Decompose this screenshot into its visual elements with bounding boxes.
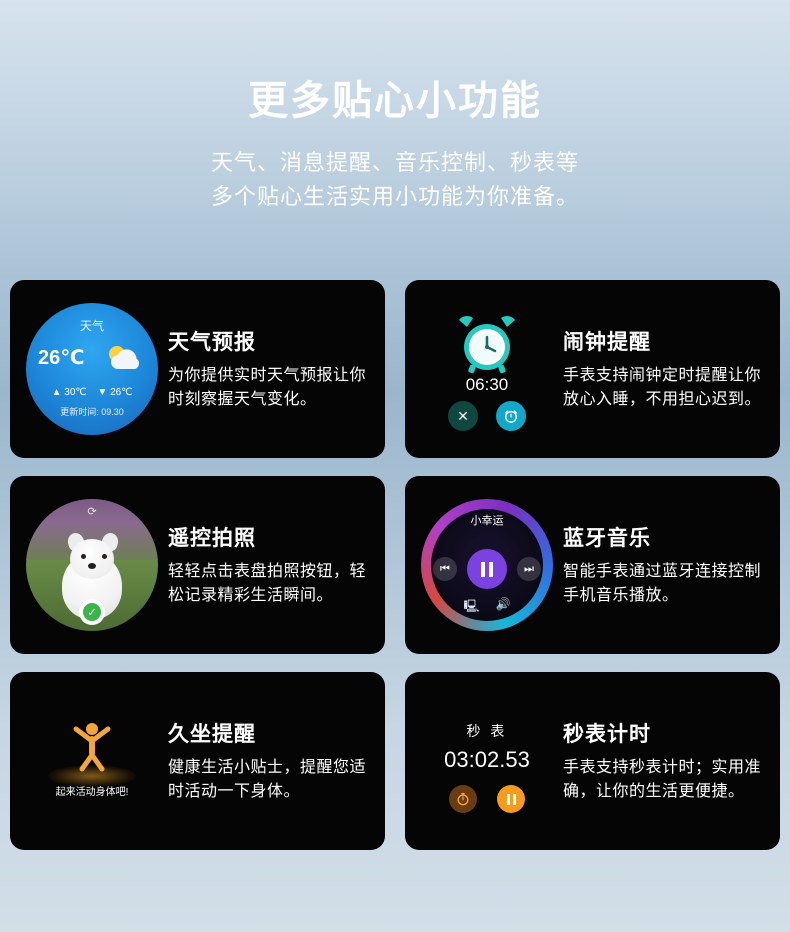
feature-card-music[interactable]: 小幸运 ⏮ ⏭ 🖳 🔊 蓝牙音乐 智能手表通过蓝牙连接控制手机音乐播放。 bbox=[405, 476, 780, 654]
previous-track-icon[interactable]: ⏮ bbox=[433, 557, 457, 581]
page-subtitle: 天气、消息提醒、音乐控制、秒表等 多个贴心生活实用小功能为你准备。 bbox=[0, 146, 790, 214]
stretching-person-icon bbox=[62, 717, 122, 773]
alarm-heading: 闹钟提醒 bbox=[563, 326, 764, 356]
dog-nose bbox=[88, 563, 96, 569]
stopwatch-reset-icon[interactable] bbox=[449, 785, 477, 813]
feature-card-weather[interactable]: 天气 26℃ ▲ 30℃ ▼ 26℃ 更新时间: 09.30 bbox=[10, 280, 385, 458]
stopwatch-time: 03:02.53 bbox=[417, 747, 557, 773]
sedentary-heading: 久坐提醒 bbox=[168, 718, 369, 748]
alarm-widget: 06:30 ✕ bbox=[417, 299, 557, 439]
weather-widget: 天气 26℃ ▲ 30℃ ▼ 26℃ 更新时间: 09.30 bbox=[22, 299, 162, 439]
alarm-time: 06:30 bbox=[417, 375, 557, 395]
camera-body: 轻轻点击表盘拍照按钮，轻松记录精彩生活瞬间。 bbox=[168, 560, 369, 608]
weather-text: 天气预报 为你提供实时天气预报让你时刻察握天气变化。 bbox=[162, 326, 373, 412]
close-icon[interactable]: ✕ bbox=[448, 401, 478, 431]
weather-dial: 天气 26℃ ▲ 30℃ ▼ 26℃ 更新时间: 09.30 bbox=[26, 303, 158, 435]
stopwatch-label: 秒 表 bbox=[417, 721, 557, 741]
feature-grid: 天气 26℃ ▲ 30℃ ▼ 26℃ 更新时间: 09.30 bbox=[10, 280, 780, 850]
dog-photo: ⟳ ✓ bbox=[26, 499, 158, 631]
music-heading: 蓝牙音乐 bbox=[563, 522, 764, 552]
weather-update-time: 更新时间: 09.30 bbox=[26, 405, 158, 418]
alarm-buttons: ✕ bbox=[417, 401, 557, 431]
music-dial: 小幸运 ⏮ ⏭ 🖳 🔊 bbox=[421, 499, 553, 631]
sedentary-caption: 起来活动身体吧! bbox=[22, 783, 162, 798]
check-icon[interactable]: ✓ bbox=[79, 599, 105, 625]
promo-page: 更多贴心小功能 天气、消息提醒、音乐控制、秒表等 多个贴心生活实用小功能为你准备… bbox=[0, 0, 790, 932]
weather-high: ▲ 30℃ bbox=[52, 387, 87, 398]
stopwatch-widget: 秒 表 03:02.53 bbox=[417, 691, 557, 831]
camera-text: 遥控拍照 轻轻点击表盘拍照按钮，轻松记录精彩生活瞬间。 bbox=[162, 522, 373, 608]
feature-card-stopwatch[interactable]: 秒 表 03:02.53 秒表计时 bbox=[405, 672, 780, 850]
dog-eye-right bbox=[102, 554, 107, 559]
alarm-clock-icon bbox=[455, 313, 519, 382]
alarm-wrap: 06:30 ✕ bbox=[417, 299, 557, 439]
feature-card-camera[interactable]: ⟳ ✓ 遥控拍照 轻轻点击表盘拍照按钮，轻松记录精彩生活瞬间。 bbox=[10, 476, 385, 654]
stopwatch-buttons bbox=[417, 785, 557, 813]
weather-range: ▲ 30℃ ▼ 26℃ bbox=[26, 387, 158, 398]
alarm-body: 手表支持闹钟定时提醒让你放心入睡，不用担心迟到。 bbox=[563, 364, 764, 412]
stopwatch-body: 手表支持秒表计时；实用准确，让你的生活更便捷。 bbox=[563, 756, 764, 804]
sedentary-body: 健康生活小贴士，提醒您适时活动一下身体。 bbox=[168, 756, 369, 804]
bluetooth-device-icon[interactable]: 🖳 bbox=[464, 597, 480, 618]
sedentary-widget: 起来活动身体吧! bbox=[22, 691, 162, 831]
feature-card-sedentary[interactable]: 起来活动身体吧! 久坐提醒 健康生活小贴士，提醒您适时活动一下身体。 bbox=[10, 672, 385, 850]
sedentary-wrap: 起来活动身体吧! bbox=[22, 691, 162, 831]
dog-eye-left bbox=[81, 554, 86, 559]
pause-icon[interactable] bbox=[467, 549, 507, 589]
pause-icon[interactable] bbox=[497, 785, 525, 813]
camera-heading: 遥控拍照 bbox=[168, 522, 369, 552]
page-title: 更多贴心小功能 bbox=[0, 78, 790, 124]
sun-cloud-icon bbox=[104, 343, 146, 373]
page-header: 更多贴心小功能 天气、消息提醒、音乐控制、秒表等 多个贴心生活实用小功能为你准备… bbox=[0, 0, 790, 214]
weather-label: 天气 bbox=[26, 317, 158, 334]
stopwatch-text: 秒表计时 手表支持秒表计时；实用准确，让你的生活更便捷。 bbox=[557, 718, 768, 804]
feature-card-alarm[interactable]: 06:30 ✕ 闹钟提 bbox=[405, 280, 780, 458]
music-text: 蓝牙音乐 智能手表通过蓝牙连接控制手机音乐播放。 bbox=[557, 522, 768, 608]
camera-rotate-icon[interactable]: ⟳ bbox=[87, 505, 96, 518]
volume-icon[interactable]: 🔊 bbox=[496, 597, 511, 618]
music-body: 智能手表通过蓝牙连接控制手机音乐播放。 bbox=[563, 560, 764, 608]
next-track-icon[interactable]: ⏭ bbox=[517, 557, 541, 581]
camera-widget: ⟳ ✓ bbox=[22, 495, 162, 635]
weather-low: ▼ 26℃ bbox=[97, 387, 132, 398]
subtitle-line-1: 天气、消息提醒、音乐控制、秒表等 bbox=[0, 146, 790, 180]
weather-temperature: 26℃ bbox=[38, 345, 84, 370]
weather-body: 为你提供实时天气预报让你时刻察握天气变化。 bbox=[168, 364, 369, 412]
stopwatch-wrap: 秒 表 03:02.53 bbox=[417, 691, 557, 831]
music-song-title: 小幸运 bbox=[421, 512, 553, 528]
stopwatch-heading: 秒表计时 bbox=[563, 718, 764, 748]
sedentary-text: 久坐提醒 健康生活小贴士，提醒您适时活动一下身体。 bbox=[162, 718, 373, 804]
music-widget: 小幸运 ⏮ ⏭ 🖳 🔊 bbox=[417, 495, 557, 635]
snooze-icon[interactable] bbox=[496, 401, 526, 431]
music-bottom-row: 🖳 🔊 bbox=[421, 597, 553, 618]
subtitle-line-2: 多个贴心生活实用小功能为你准备。 bbox=[0, 180, 790, 214]
music-controls: ⏮ ⏭ bbox=[421, 549, 553, 589]
alarm-text: 闹钟提醒 手表支持闹钟定时提醒让你放心入睡，不用担心迟到。 bbox=[557, 326, 768, 412]
weather-heading: 天气预报 bbox=[168, 326, 369, 356]
dog-head bbox=[70, 539, 114, 579]
